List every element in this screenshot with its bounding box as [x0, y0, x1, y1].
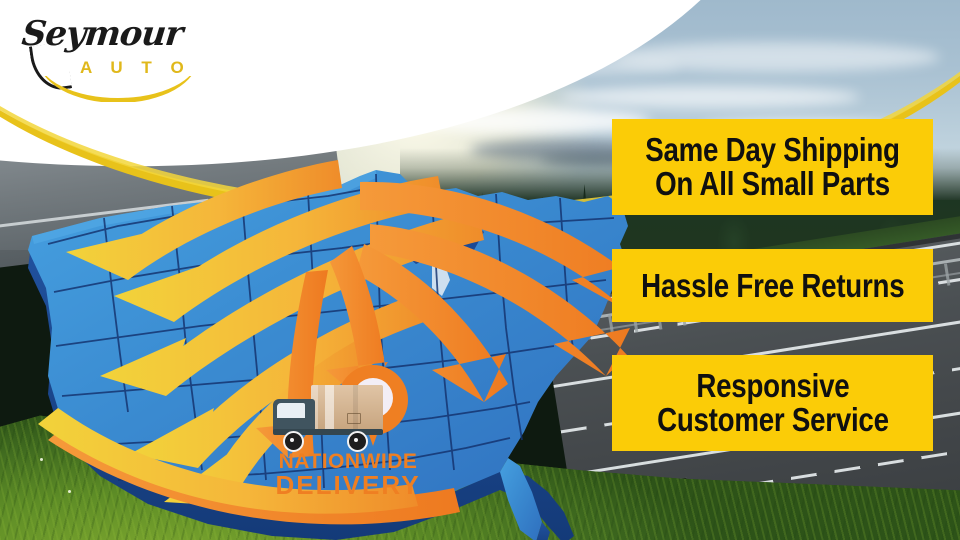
truck-box-band: [325, 385, 334, 431]
callout-line: Hassle Free Returns: [641, 269, 904, 303]
callout-line: Customer Service: [657, 403, 889, 437]
callout-line: On All Small Parts: [645, 167, 900, 201]
callout-text: Hassle Free Returns: [641, 269, 904, 303]
truck-wheel: [283, 431, 304, 452]
callout-text: Same Day Shipping On All Small Parts: [645, 133, 900, 201]
callout-line: Same Day Shipping: [645, 133, 900, 167]
brand-name: Seymour: [20, 14, 184, 54]
brand-logo[interactable]: Seymour A U T O: [14, 14, 204, 94]
callout-text: Responsive Customer Service: [657, 369, 889, 437]
promo-banner: NATIONWIDE DELIVERY Seymour A U T O Same…: [0, 0, 960, 540]
usa-delivery-map: NATIONWIDE DELIVERY: [8, 140, 658, 540]
truck-wheel: [347, 431, 368, 452]
logo-swoosh-icon: [38, 76, 198, 102]
truck-cargo-box: [311, 385, 383, 431]
delivery-truck-icon: [273, 385, 383, 451]
delivery-caption-line-1: NATIONWIDE: [263, 451, 433, 472]
delivery-badge: NATIONWIDE DELIVERY: [263, 365, 433, 505]
truck-box-band: [353, 385, 358, 431]
truck-box-label: [347, 413, 361, 424]
delivery-caption: NATIONWIDE DELIVERY: [263, 451, 433, 499]
callout-same-day-shipping[interactable]: Same Day Shipping On All Small Parts: [612, 119, 933, 215]
callout-line: Responsive: [657, 369, 889, 403]
brand-subtitle: A U T O: [80, 58, 191, 78]
truck-window: [277, 403, 305, 418]
callout-responsive-customer-service[interactable]: Responsive Customer Service: [612, 355, 933, 451]
delivery-caption-line-2: DELIVERY: [263, 472, 433, 499]
callout-hassle-free-returns[interactable]: Hassle Free Returns: [612, 249, 933, 322]
